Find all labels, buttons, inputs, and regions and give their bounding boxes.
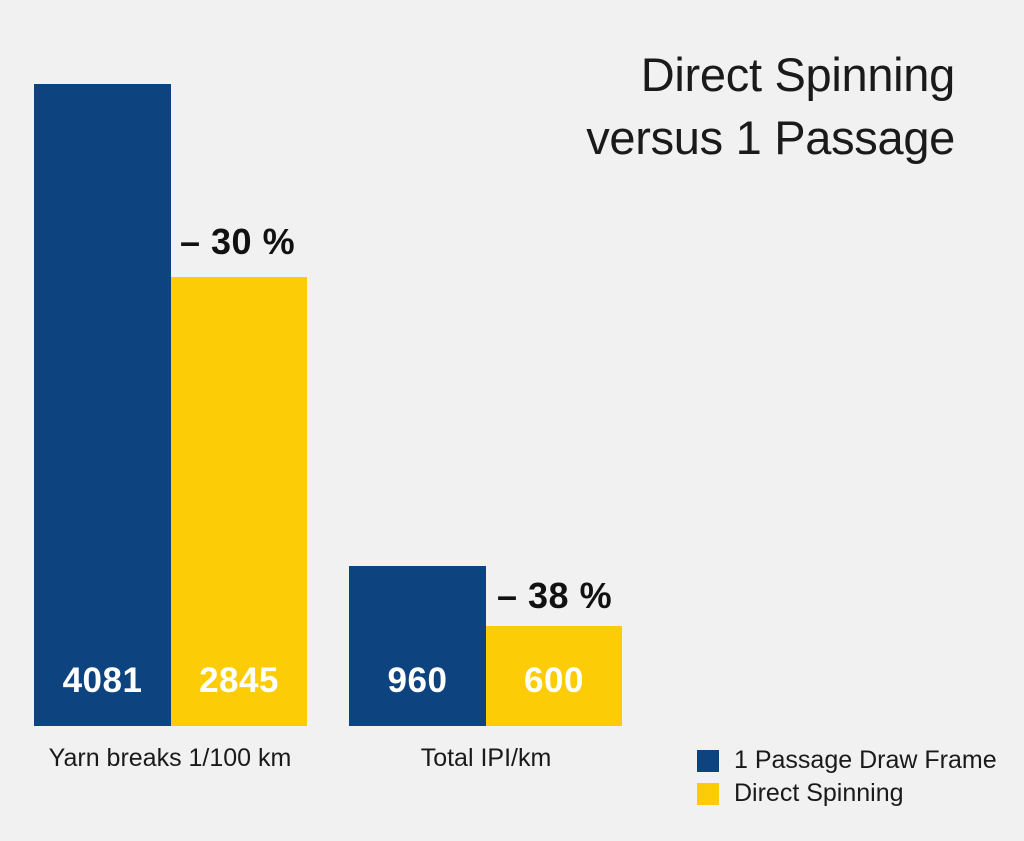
- legend-swatch-icon: [697, 750, 719, 772]
- bar-chart: Direct Spinning versus 1 Passage 4081 28…: [0, 0, 1024, 841]
- bar-direct-spinning-total-ipi[interactable]: 600: [486, 626, 622, 726]
- bar-value-label: 4081: [34, 663, 171, 698]
- bar-passage-draw-frame-total-ipi[interactable]: 960: [349, 566, 486, 726]
- plot-area: 4081 2845 – 30 % 960 600 – 38 % Yarn bre…: [0, 0, 1024, 841]
- delta-label-total-ipi: – 38 %: [497, 578, 612, 614]
- legend-item-label: 1 Passage Draw Frame: [734, 748, 997, 773]
- bar-value-label: 600: [486, 663, 622, 698]
- bar-passage-draw-frame-yarn-breaks[interactable]: 4081: [34, 84, 171, 726]
- category-label-total-ipi: Total IPI/km: [336, 746, 636, 771]
- legend-item-direct-spinning[interactable]: Direct Spinning: [697, 777, 997, 810]
- legend: 1 Passage Draw Frame Direct Spinning: [697, 744, 997, 810]
- category-label-yarn-breaks: Yarn breaks 1/100 km: [20, 746, 320, 771]
- bar-direct-spinning-yarn-breaks[interactable]: 2845: [171, 277, 307, 726]
- delta-label-yarn-breaks: – 30 %: [180, 224, 295, 260]
- legend-swatch-icon: [697, 783, 719, 805]
- bar-value-label: 2845: [171, 663, 307, 698]
- legend-item-label: Direct Spinning: [734, 781, 904, 806]
- bar-value-label: 960: [349, 663, 486, 698]
- legend-item-passage-draw-frame[interactable]: 1 Passage Draw Frame: [697, 744, 997, 777]
